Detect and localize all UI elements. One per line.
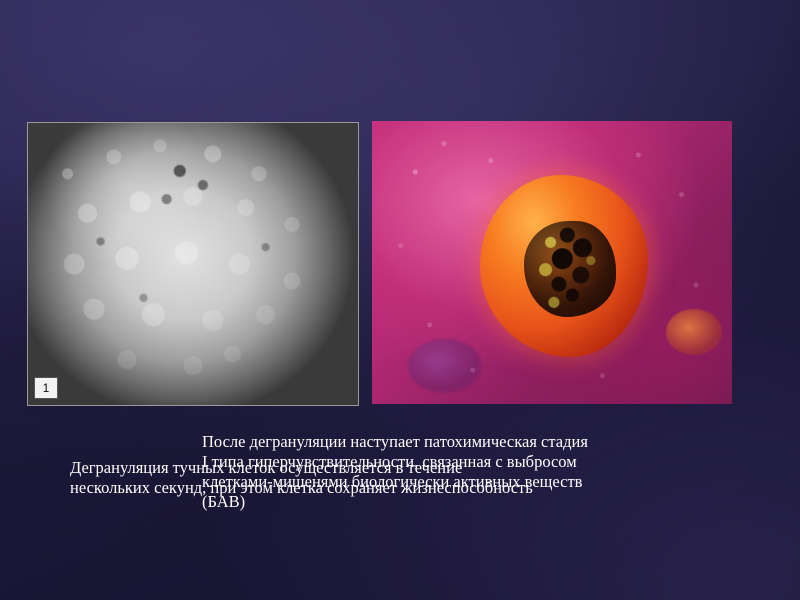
sem-micrograph-mast-cell: 1: [27, 122, 359, 406]
image-index-label: 1: [34, 377, 58, 399]
presentation-slide: 1 После дегрануляции наступает патохимич…: [0, 0, 800, 600]
sem-dark-pits: [28, 123, 358, 405]
caption-line: нескольких секунд, при этом клетка сохра…: [70, 478, 750, 498]
degranulating-mast-cell-illustration: [372, 121, 732, 404]
caption-line: После дегрануляции наступает патохимичес…: [202, 432, 762, 452]
released-mediator-particles: [372, 121, 732, 404]
caption-line: Дегрануляция тучных клеток осуществляетс…: [70, 458, 750, 478]
caption-degranulation-duration: Дегрануляция тучных клеток осуществляетс…: [70, 458, 750, 498]
